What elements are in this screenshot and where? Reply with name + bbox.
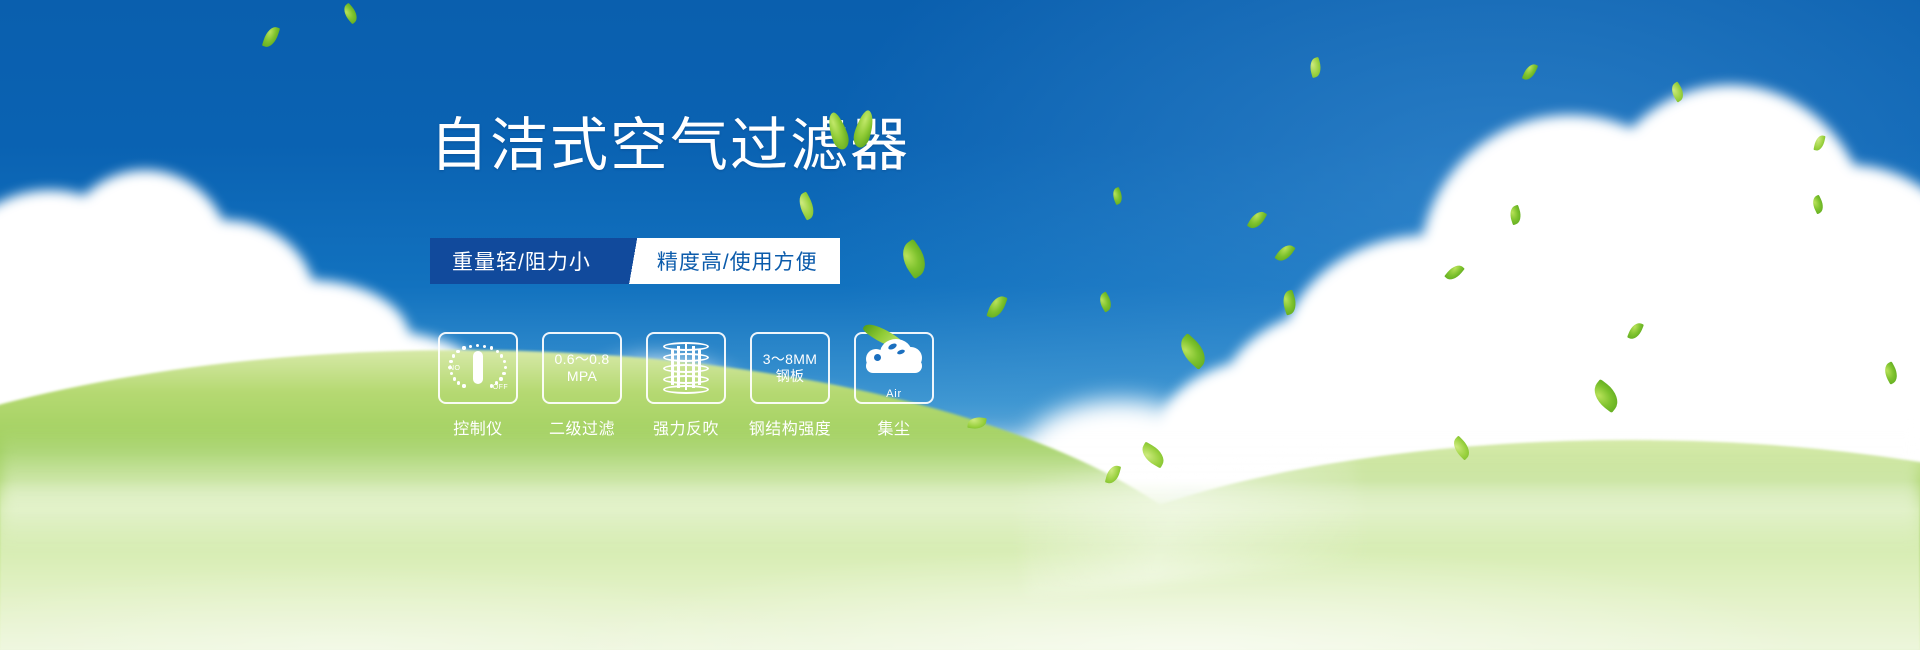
steel-line-1: 3～8MM — [763, 351, 817, 368]
feature-item-dust[interactable]: Air 集尘 — [854, 332, 934, 439]
feature-label: 强力反吹 — [653, 415, 719, 439]
feature-icon-box: NO OFF — [438, 332, 518, 404]
pressure-line-1: 0.6～0.8 — [554, 351, 609, 368]
feature-item-steel[interactable]: 3～8MM 钢板 钢结构强度 — [750, 332, 830, 439]
feature-label: 二级过滤 — [549, 415, 615, 439]
control-dial-icon: NO OFF — [450, 342, 506, 394]
subtitle-badge-divider — [617, 238, 651, 284]
dial-off-label: OFF — [493, 384, 508, 391]
sprout-leaf-left — [824, 110, 852, 151]
subtitle-badge-left: 重量轻/阻力小 — [430, 238, 617, 284]
feature-icon-box: Air — [854, 332, 934, 404]
steel-line-2: 钢板 — [763, 368, 817, 385]
feature-item-pressure[interactable]: 0.6～0.8 MPA 二级过滤 — [542, 332, 622, 439]
sprout-leaf-right — [851, 108, 878, 149]
feature-icon-box: 3～8MM 钢板 — [750, 332, 830, 404]
filter-coil-icon — [663, 341, 709, 395]
feature-icon-box: 0.6～0.8 MPA — [542, 332, 622, 404]
pressure-text-icon: 0.6～0.8 MPA — [554, 351, 609, 384]
pressure-line-2: MPA — [554, 368, 609, 385]
dial-on-label: NO — [449, 365, 460, 372]
feature-label: 控制仪 — [453, 415, 503, 439]
steel-plate-text-icon: 3～8MM 钢板 — [763, 351, 817, 384]
dial-knob — [473, 351, 483, 384]
feature-label: 钢结构强度 — [749, 415, 832, 439]
hero-banner: 自洁式空气过滤器 重量轻/阻力小 精度高/使用方便 — [0, 0, 1920, 650]
air-cloud-icon — [864, 337, 924, 387]
banner-content: 自洁式空气过滤器 重量轻/阻力小 精度高/使用方便 — [0, 0, 1920, 650]
sprout-leaves-icon — [826, 108, 886, 150]
feature-list: NO OFF 控制仪 0.6～0.8 MPA 二级过滤 — [438, 332, 934, 439]
feature-item-control[interactable]: NO OFF 控制仪 — [438, 332, 518, 439]
feature-label: 集尘 — [877, 415, 910, 439]
subtitle-badge-right: 精度高/使用方便 — [651, 238, 840, 284]
air-icon-label: Air — [886, 388, 902, 400]
feature-item-backblow[interactable]: 强力反吹 — [646, 332, 726, 439]
subtitle-badge-bar: 重量轻/阻力小 精度高/使用方便 — [430, 238, 840, 284]
feature-icon-box — [646, 332, 726, 404]
